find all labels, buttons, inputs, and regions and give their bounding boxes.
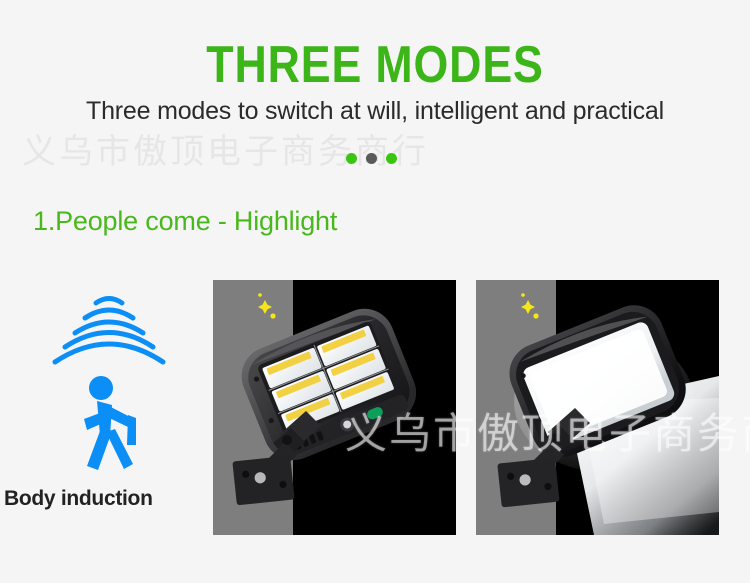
page-subtitle: Three modes to switch at will, intellige… (0, 96, 750, 126)
header-section: 义乌市傲顶电子商务商行 THREE MODES Three modes to s… (0, 0, 750, 180)
page-title: THREE MODES (53, 38, 698, 92)
dot-1 (346, 153, 357, 164)
solar-street-light-beam-on (476, 280, 719, 535)
solar-street-light-led-array (213, 280, 456, 535)
feature-label-body-induction: Body induction (4, 487, 153, 511)
section-heading-mode-1: 1.People come - Highlight (33, 206, 337, 237)
dot-3 (386, 153, 397, 164)
product-panel-light-on (476, 280, 719, 535)
dot-separator (346, 153, 397, 164)
product-panel-light-off (213, 280, 456, 535)
dot-2 (366, 153, 377, 164)
watermark-header: 义乌市傲顶电子商务商行 (22, 124, 429, 173)
motion-sensor-walking-person-icon (40, 285, 180, 475)
